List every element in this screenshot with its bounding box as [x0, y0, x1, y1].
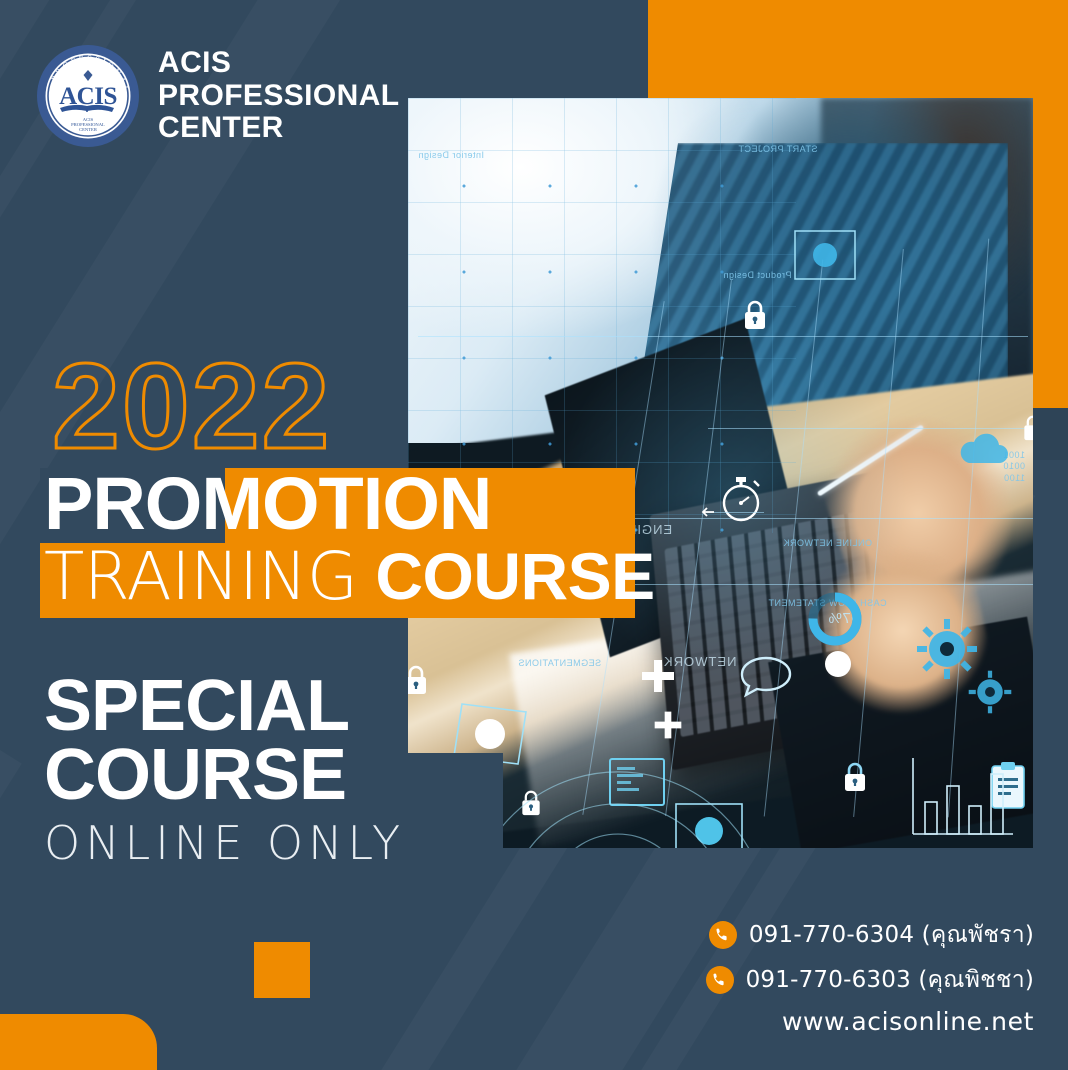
brand-logo: PROFESSIONAL CENTER CO., LTD ACIS ACIS P… [36, 44, 400, 148]
contact-row-phone-1[interactable]: 091-770-6304 (คุณพัชรา) [706, 917, 1034, 953]
orange-block-bottom-left [0, 1014, 157, 1070]
special-line-2: COURSE [44, 741, 405, 810]
brand-line-2: PROFESSIONAL [158, 80, 400, 112]
acis-seal-icon: PROFESSIONAL CENTER CO., LTD ACIS ACIS P… [36, 44, 140, 148]
orange-square-accent [254, 942, 310, 998]
promotional-poster: Interior Design START PROJECT Product De… [0, 0, 1068, 1070]
special-line-1: SPECIAL [44, 672, 405, 741]
brand-name: ACIS PROFESSIONAL CENTER [158, 47, 400, 144]
year-text: 2022 [52, 345, 331, 467]
special-course-block: SPECIAL COURSE ONLINE ONLY [44, 672, 405, 870]
headline-training: TRAINING [44, 538, 357, 615]
svg-text:CENTER: CENTER [79, 127, 98, 132]
phone-number-2: 091-770-6303 (คุณพิชชา) [746, 962, 1034, 998]
headline-course: COURSE [375, 539, 654, 613]
headline-block: PROMOTION TRAINING COURSE [44, 468, 684, 610]
headline-promotion: PROMOTION [44, 468, 684, 541]
website-url[interactable]: www.acisonline.net [706, 1007, 1034, 1036]
phone-icon [709, 921, 737, 949]
phone-number-1: 091-770-6304 (คุณพัชรา) [749, 917, 1034, 953]
brand-line-1: ACIS [158, 47, 400, 79]
contact-block: 091-770-6304 (คุณพัชรา) 091-770-6303 (คุ… [706, 917, 1034, 1036]
special-subtitle: ONLINE ONLY [44, 816, 405, 870]
brand-line-3: CENTER [158, 112, 400, 144]
navy-strip-right [1033, 408, 1068, 460]
headline-training-course: TRAINING COURSE [44, 543, 684, 610]
orange-strip-right [1033, 255, 1068, 408]
phone-icon [706, 966, 734, 994]
contact-row-phone-2[interactable]: 091-770-6303 (คุณพิชชา) [706, 962, 1034, 998]
